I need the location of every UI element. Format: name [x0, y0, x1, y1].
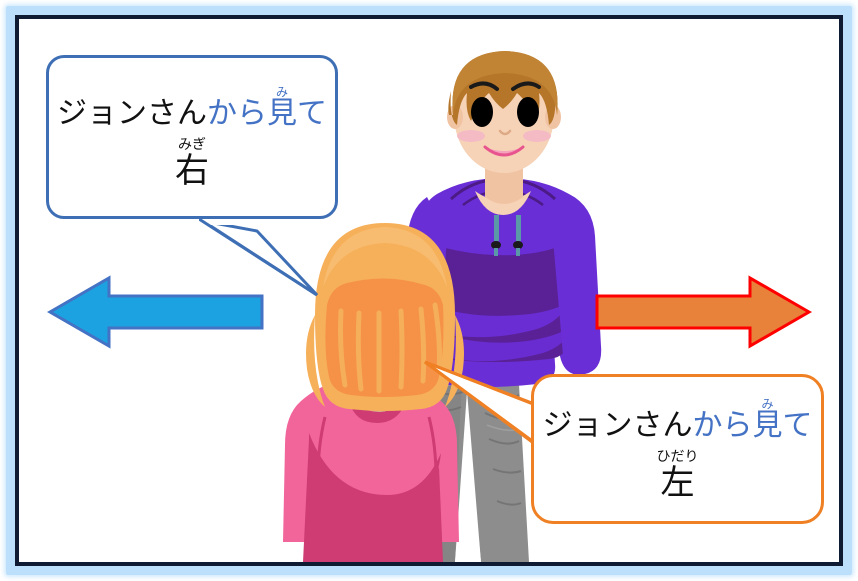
bubble-right-highlight: から [207, 97, 267, 130]
boy-head [447, 51, 561, 204]
bubble-right-line2: みぎ 右 [175, 139, 209, 189]
speech-bubble-right[interactable]: ジョンさんからみ見て みぎ 右 [46, 55, 338, 219]
bubble-right-kanji-mi: み見 [267, 86, 297, 129]
bubble-right-suffix: て [297, 97, 327, 130]
bubble-left-prefix: ジョンさん [543, 409, 693, 442]
bubble-left-answer-base: 左 [661, 467, 695, 501]
bubble-right-answer: みぎ 右 [175, 139, 209, 189]
arrow-right [592, 272, 812, 352]
bubble-right-answer-base: 右 [175, 155, 209, 189]
bubble-left-line1: ジョンさんからみ見て [543, 398, 813, 441]
bubble-right-mi-ruby: み [276, 86, 288, 98]
bubble-left-kanji-mi: み見 [753, 398, 783, 441]
speech-bubble-left[interactable]: ジョンさんからみ見て ひだり 左 [531, 374, 824, 524]
bubble-left-line2: ひだり 左 [657, 451, 699, 501]
bubble-right-mi-base: 見 [267, 99, 297, 129]
bubble-left-mi-base: 見 [753, 411, 783, 441]
bubble-left-mi-ruby: み [761, 398, 773, 410]
bubble-left-answer-ruby: ひだり [657, 451, 699, 465]
bubble-left-highlight: から [693, 409, 753, 442]
bubble-left-suffix: て [783, 409, 813, 442]
bubble-right-line1: ジョンさんからみ見て [57, 86, 327, 129]
bubble-right-prefix: ジョンさん [57, 97, 207, 130]
illustration-canvas: ジョンさんからみ見て みぎ 右 ジョンさんからみ見て ひだり 左 [19, 19, 839, 562]
bubble-left-answer: ひだり 左 [657, 451, 699, 501]
bubble-right-answer-ruby: みぎ [178, 139, 206, 153]
screenshot-root: ジョンさんからみ見て みぎ 右 ジョンさんからみ見て ひだり 左 [0, 0, 858, 581]
